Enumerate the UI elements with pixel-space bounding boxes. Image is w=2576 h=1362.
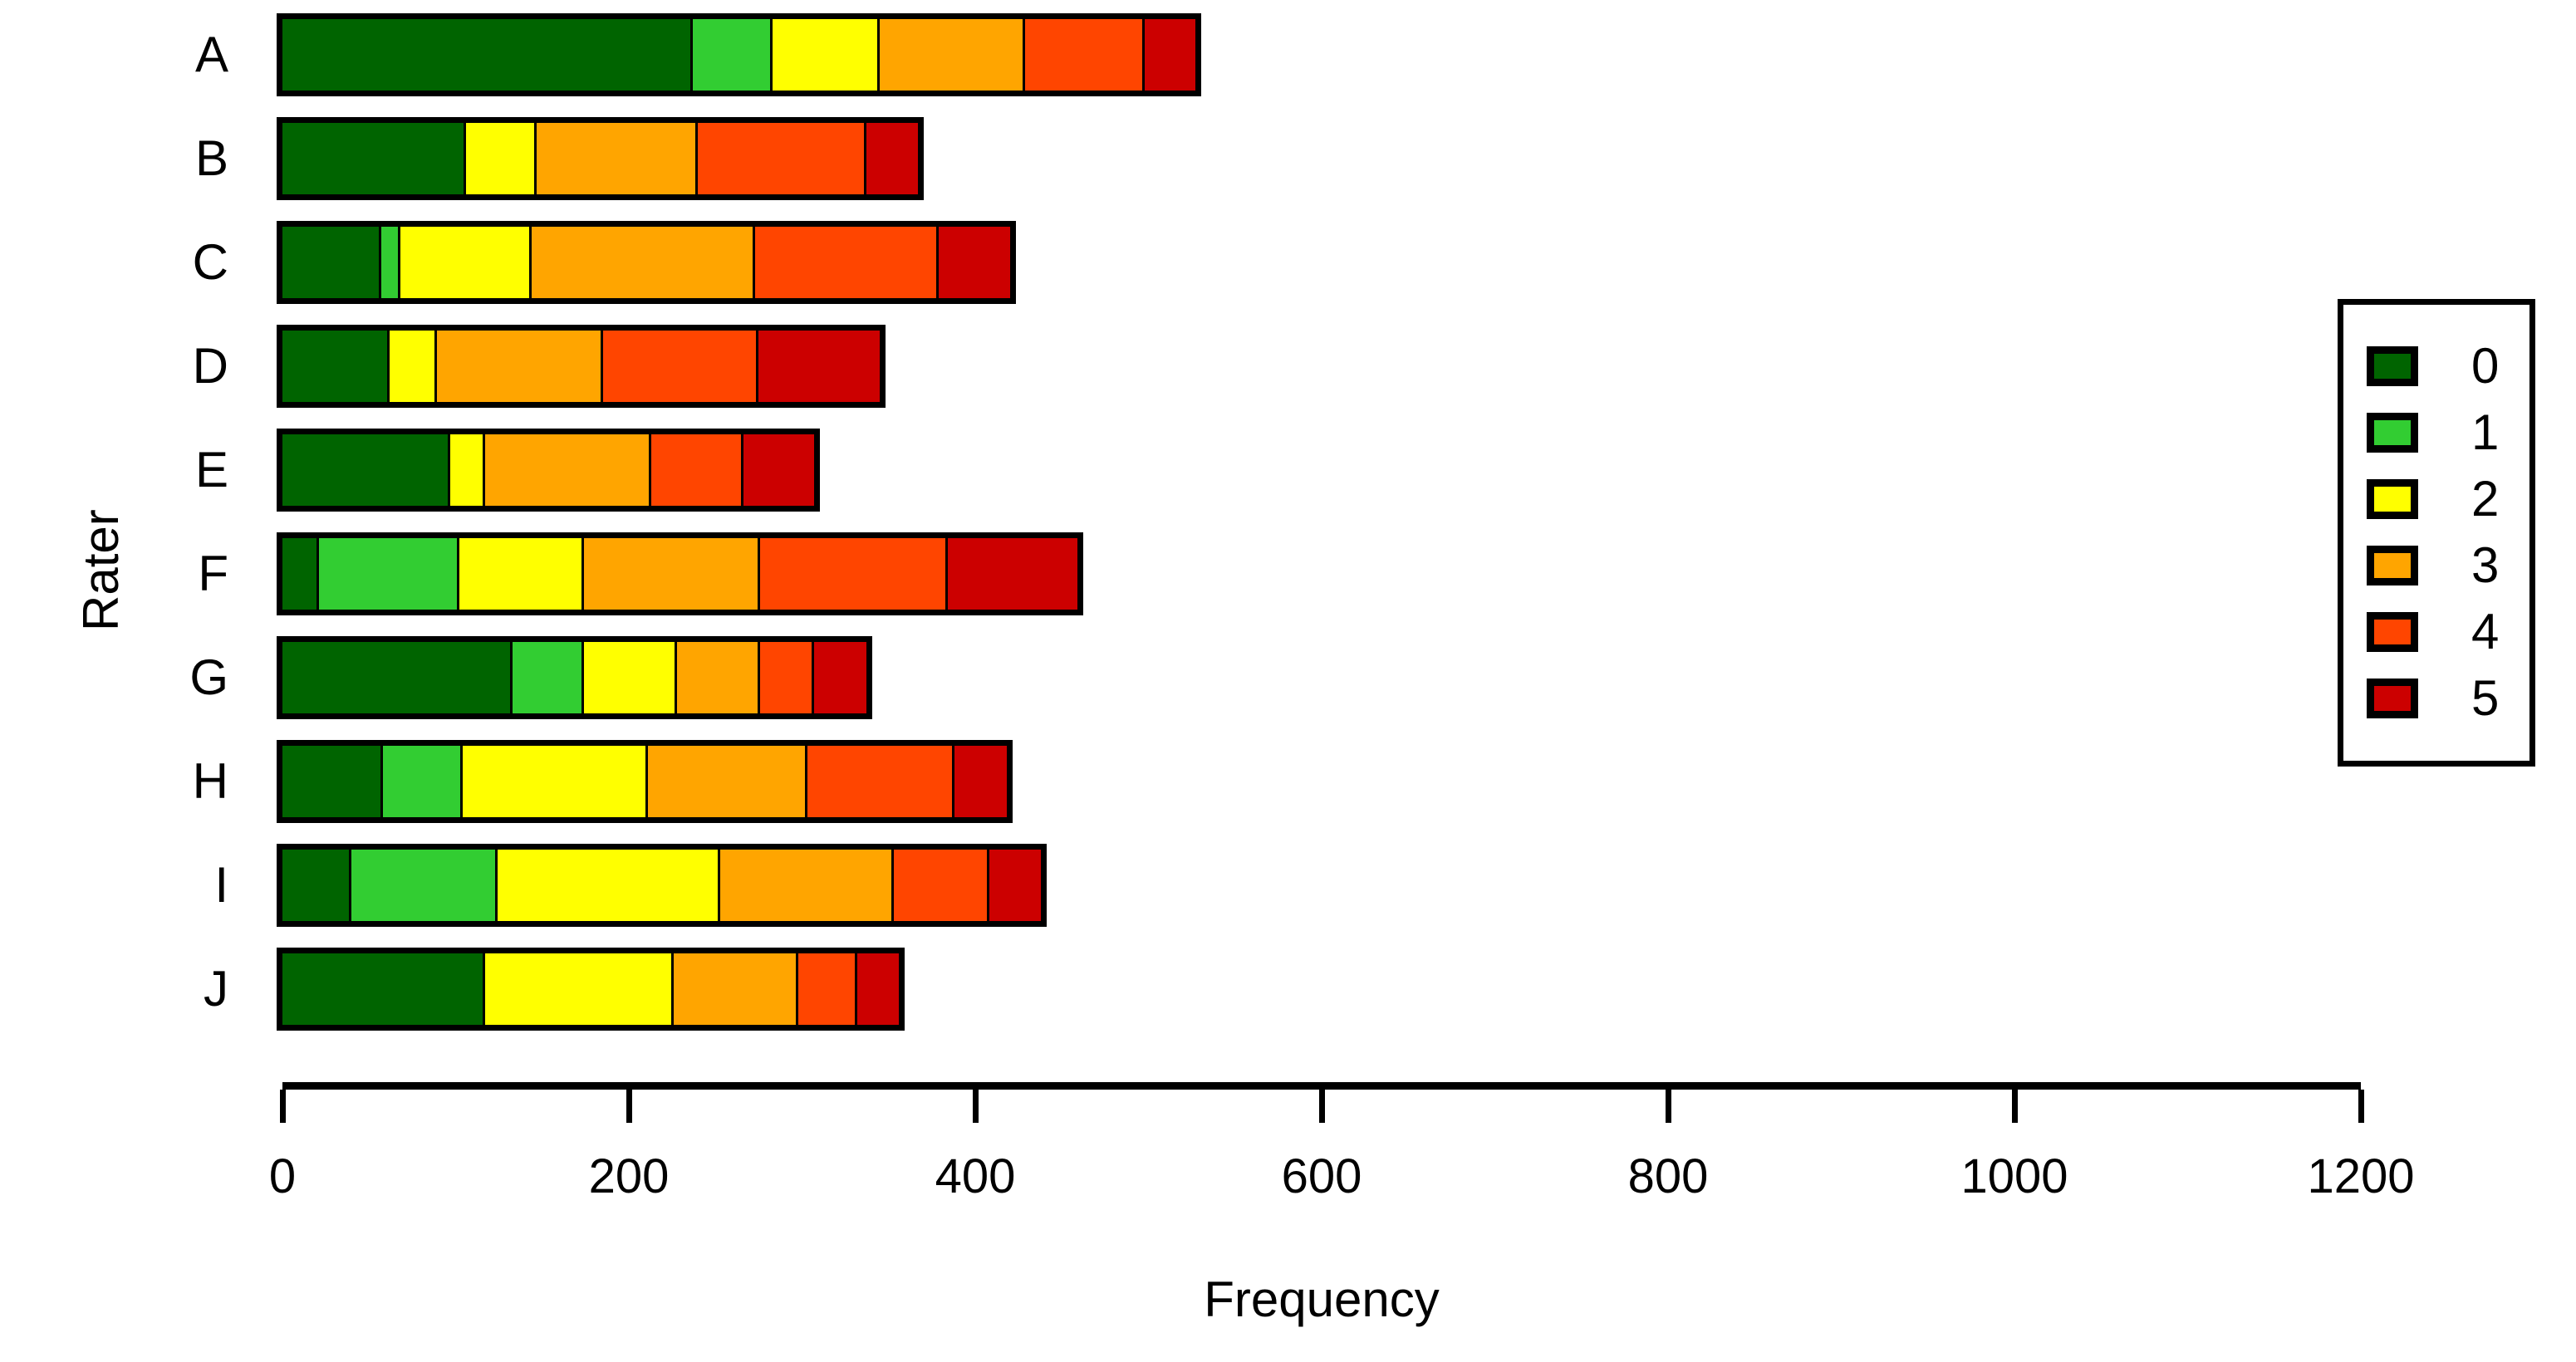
x-axis-tick	[280, 1090, 286, 1123]
bar-row	[277, 636, 872, 719]
x-axis-tick	[973, 1090, 979, 1123]
bar-segment	[939, 227, 1009, 298]
bar-row	[277, 429, 820, 512]
bar-segment	[677, 642, 760, 713]
legend-label-0: 0	[2471, 341, 2499, 391]
x-axis-tick	[626, 1090, 632, 1123]
y-axis-tick-label-d: D	[129, 341, 228, 391]
x-axis-title: Frequency	[948, 1275, 1695, 1325]
bar-segment	[400, 227, 532, 298]
bar-row	[277, 13, 1201, 96]
x-axis-tick-label: 200	[529, 1153, 729, 1201]
x-axis-tick-label: 600	[1222, 1153, 1421, 1201]
bar-segment	[894, 850, 989, 921]
bar-row	[277, 948, 905, 1031]
legend-swatch-5	[2367, 679, 2418, 718]
bar-segment	[319, 538, 459, 610]
x-axis-tick-label: 800	[1568, 1153, 1768, 1201]
y-axis-tick-label-a: A	[129, 30, 228, 80]
legend-swatch-4	[2367, 612, 2418, 652]
bar-segment	[450, 434, 485, 506]
bar-segment	[437, 331, 603, 402]
bar-segment	[857, 953, 899, 1025]
legend-swatch-0	[2367, 346, 2418, 386]
legend-swatch-1	[2367, 413, 2418, 453]
bar-segment	[282, 434, 450, 506]
x-axis-tick	[2012, 1090, 2018, 1123]
bar-segment	[755, 227, 939, 298]
bar-segment	[459, 538, 584, 610]
chart-root: Rater ABCDEFGHIJ 020040060080010001200 F…	[0, 0, 2576, 1362]
legend-item-5[interactable]: 5	[2367, 674, 2499, 723]
legend-label-2: 2	[2471, 474, 2499, 524]
bar-segment	[720, 850, 894, 921]
y-axis-tick-label-e: E	[129, 445, 228, 495]
bar-segment	[532, 227, 755, 298]
bar-segment	[584, 642, 678, 713]
bar-segment	[498, 850, 721, 921]
bar-segment	[760, 538, 947, 610]
y-axis-tick-label-j: J	[129, 964, 228, 1014]
bar-segment	[648, 746, 807, 817]
bar-segment	[390, 331, 436, 402]
bar-segment	[798, 953, 857, 1025]
bar-row	[277, 740, 1013, 823]
legend-label-1: 1	[2471, 408, 2499, 458]
bar-segment	[948, 538, 1077, 610]
legend-item-2[interactable]: 2	[2367, 474, 2499, 524]
bar-segment	[866, 123, 919, 194]
bar-segment	[466, 123, 537, 194]
x-axis-tick	[2358, 1090, 2364, 1123]
bar-segment	[463, 746, 648, 817]
bar-segment	[282, 746, 383, 817]
bar-segment	[282, 19, 693, 91]
bar-segment	[603, 331, 759, 402]
bar-segment	[698, 123, 866, 194]
y-axis-tick-label-h: H	[129, 757, 228, 806]
bar-row	[277, 532, 1083, 615]
bar-segment	[485, 434, 651, 506]
legend-item-4[interactable]: 4	[2367, 607, 2499, 657]
bar-segment	[758, 331, 880, 402]
legend-swatch-2	[2367, 479, 2418, 519]
bar-segment	[1025, 19, 1145, 91]
bar-segment	[282, 642, 513, 713]
bar-row	[277, 844, 1047, 927]
bar-segment	[537, 123, 698, 194]
bar-segment	[693, 19, 773, 91]
bar-row	[277, 117, 924, 200]
bar-segment	[880, 19, 1025, 91]
bar-segment	[807, 746, 954, 817]
bar-segment	[513, 642, 583, 713]
legend-label-4: 4	[2471, 607, 2499, 657]
bar-segment	[282, 953, 485, 1025]
x-axis-tick-label: 1000	[1915, 1153, 2114, 1201]
bar-segment	[814, 642, 866, 713]
bar-row	[277, 325, 886, 408]
y-axis-tick-label-i: I	[129, 860, 228, 910]
bar-segment	[773, 19, 880, 91]
bar-segment	[282, 123, 466, 194]
legend-label-5: 5	[2471, 674, 2499, 723]
legend-label-3: 3	[2471, 541, 2499, 590]
y-axis-tick-label-b: B	[129, 134, 228, 184]
y-axis-title: Rater	[76, 509, 126, 631]
bar-segment	[743, 434, 814, 506]
bar-segment	[381, 227, 400, 298]
bar-segment	[485, 953, 674, 1025]
legend-item-3[interactable]: 3	[2367, 541, 2499, 590]
x-axis-line	[282, 1082, 2361, 1090]
bar-segment	[351, 850, 497, 921]
bar-segment	[282, 538, 319, 610]
legend: 012345	[2338, 299, 2535, 767]
bar-segment	[989, 850, 1042, 921]
legend-swatch-3	[2367, 546, 2418, 585]
bar-segment	[383, 746, 463, 817]
y-axis-tick-label-f: F	[129, 549, 228, 599]
x-axis-tick-label: 0	[183, 1153, 382, 1201]
plot-area: Rater ABCDEFGHIJ 020040060080010001200 F…	[0, 0, 2576, 1362]
bar-segment	[674, 953, 798, 1025]
y-axis-tick-label-g: G	[129, 653, 228, 703]
bar-segment	[282, 850, 351, 921]
bar-segment	[954, 746, 1007, 817]
bar-row	[277, 221, 1016, 304]
bar-segment	[651, 434, 743, 506]
legend-item-0[interactable]: 0	[2367, 341, 2499, 391]
x-axis-tick	[1319, 1090, 1325, 1123]
x-axis-tick	[1666, 1090, 1671, 1123]
bar-segment	[282, 331, 390, 402]
bar-segment	[760, 642, 814, 713]
legend-item-1[interactable]: 1	[2367, 408, 2499, 458]
x-axis-tick-label: 400	[876, 1153, 1075, 1201]
y-axis-tick-label-c: C	[129, 238, 228, 287]
x-axis-tick-label: 1200	[2261, 1153, 2461, 1201]
bar-segment	[1145, 19, 1195, 91]
bar-segment	[584, 538, 761, 610]
bar-segment	[282, 227, 381, 298]
